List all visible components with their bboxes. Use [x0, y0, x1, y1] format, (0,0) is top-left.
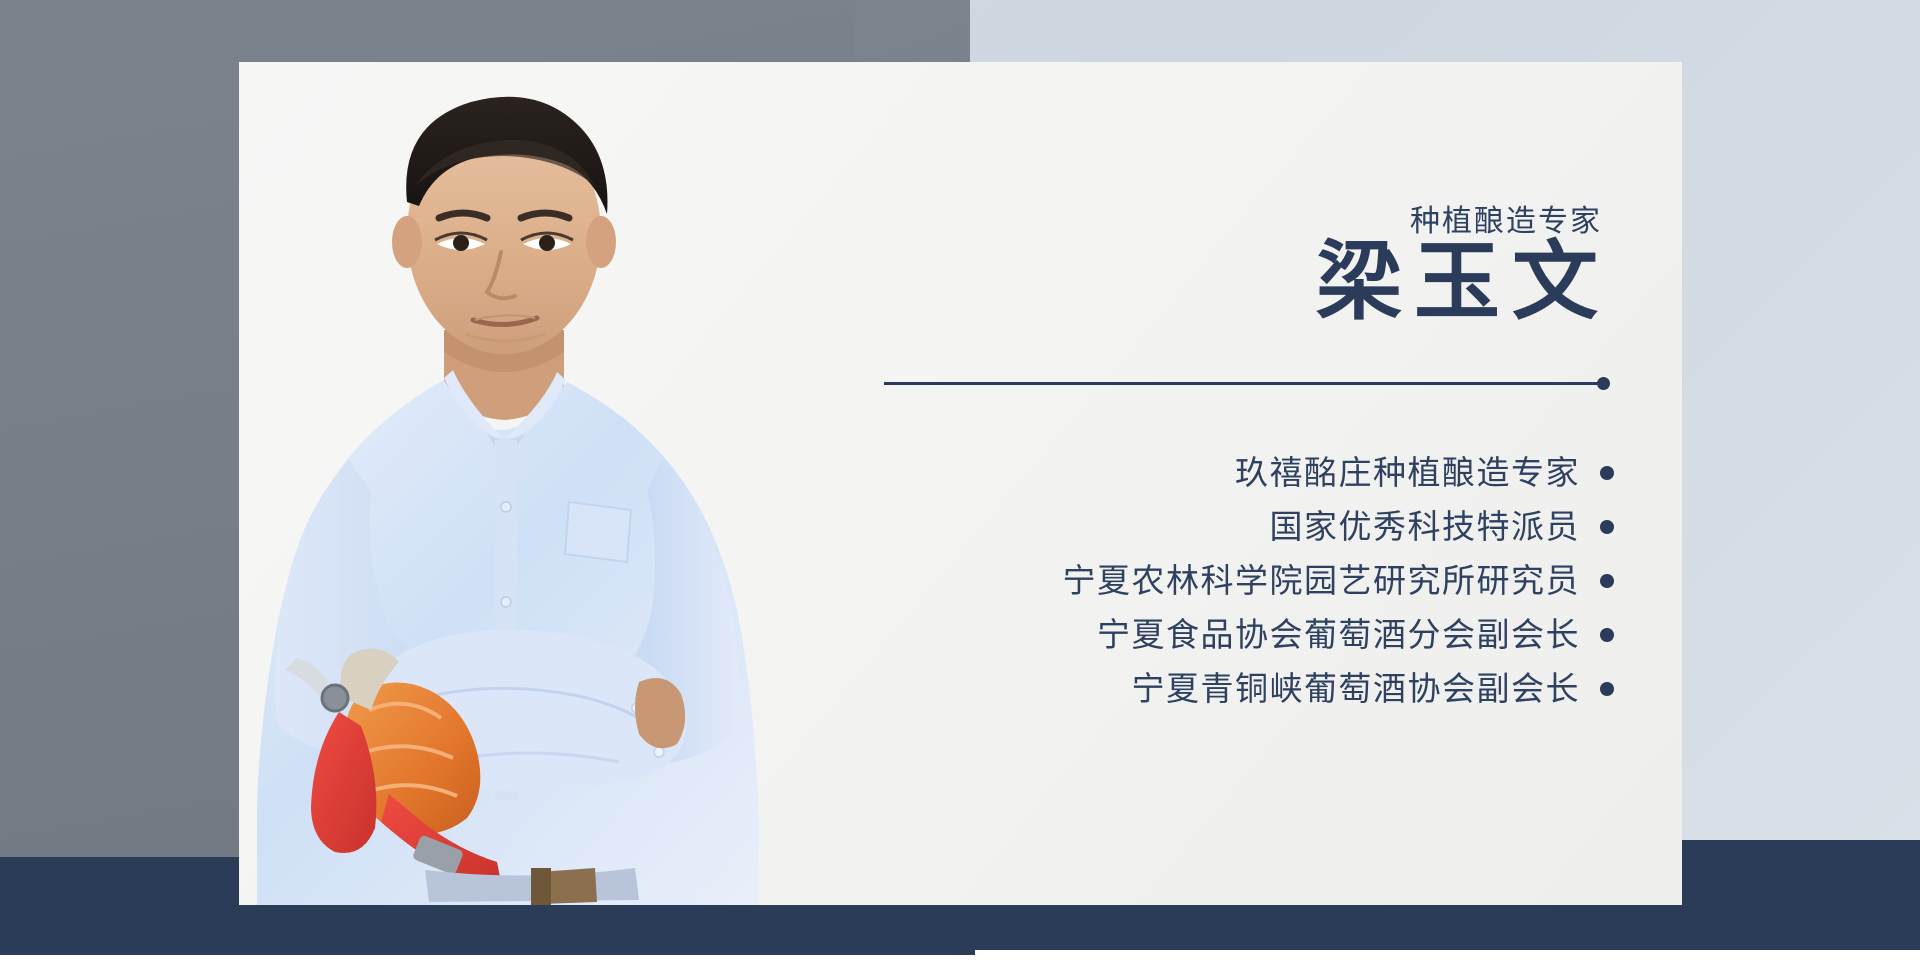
credential-label: 宁夏农林科学院园艺研究所研究员: [1063, 564, 1581, 597]
bullet-dot-icon: [1600, 520, 1614, 534]
list-item: 玖禧酩庄种植酿造专家: [1235, 456, 1614, 489]
divider-line: [884, 382, 1604, 385]
credential-list: 玖禧酩庄种植酿造专家 国家优秀科技特派员 宁夏农林科学院园艺研究所研究员 宁夏食…: [854, 456, 1614, 705]
list-item: 宁夏农林科学院园艺研究所研究员: [1063, 564, 1615, 597]
footer-white-strip-right: [975, 950, 1920, 970]
bullet-dot-icon: [1600, 466, 1614, 480]
credential-label: 宁夏青铜峡葡萄酒协会副会长: [1132, 672, 1581, 705]
list-item: 国家优秀科技特派员: [1270, 510, 1615, 543]
credential-label: 玖禧酩庄种植酿造专家: [1235, 456, 1580, 489]
list-item: 宁夏青铜峡葡萄酒协会副会长: [1132, 672, 1615, 705]
person-name: 梁玉文: [1316, 237, 1610, 327]
credential-label: 国家优秀科技特派员: [1270, 510, 1581, 543]
banner-stage: 种植酿造专家 梁玉文 玖禧酩庄种植酿造专家 国家优秀科技特派员 宁夏农林科学院园…: [0, 0, 1920, 970]
list-item: 宁夏食品协会葡萄酒分会副会长: [1097, 618, 1614, 651]
text-column: 种植酿造专家 梁玉文 玖禧酩庄种植酿造专家 国家优秀科技特派员 宁夏农林科学院园…: [799, 62, 1682, 905]
bullet-dot-icon: [1600, 628, 1614, 642]
portrait-photo: [239, 62, 799, 905]
bullet-dot-icon: [1600, 574, 1614, 588]
divider-end-dot: [1597, 377, 1610, 390]
bullet-dot-icon: [1600, 682, 1614, 696]
profile-card: 种植酿造专家 梁玉文 玖禧酩庄种植酿造专家 国家优秀科技特派员 宁夏农林科学院园…: [239, 62, 1682, 905]
credential-label: 宁夏食品协会葡萄酒分会副会长: [1097, 618, 1580, 651]
